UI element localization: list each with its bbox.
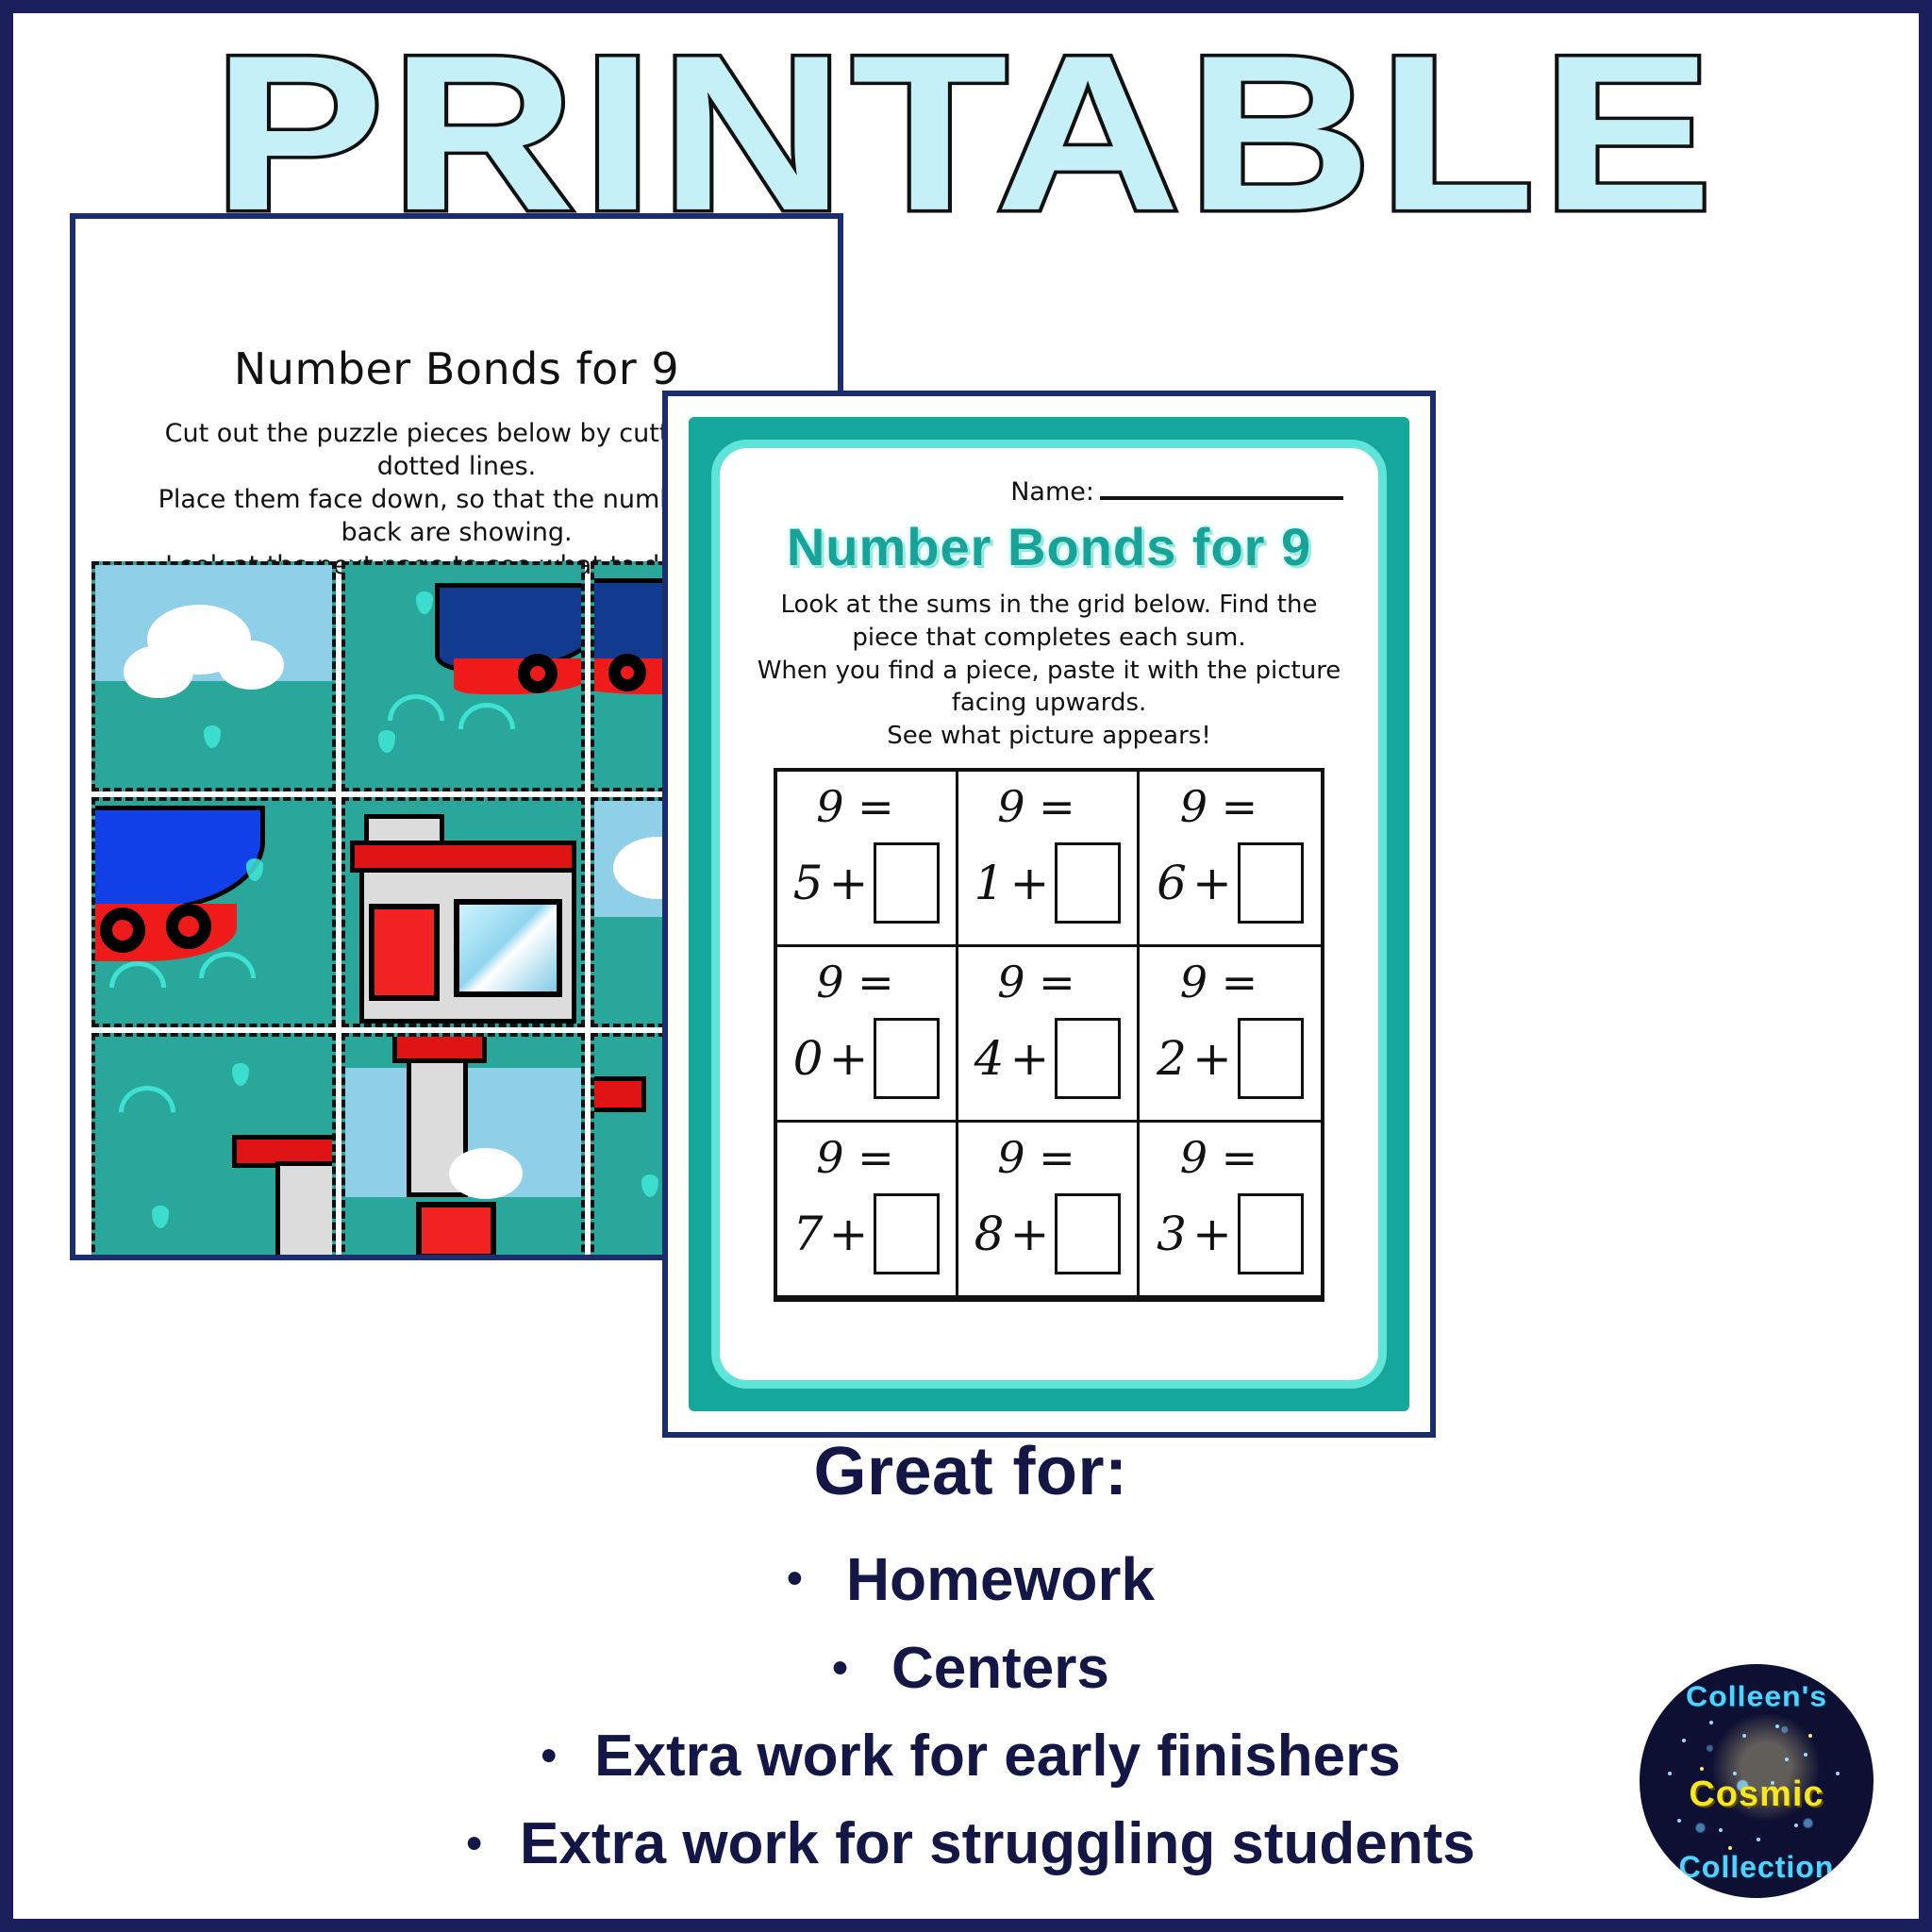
puzzle-piece	[92, 1033, 336, 1260]
great-for-label: Extra work for struggling students	[520, 1810, 1475, 1877]
answer-blank-box[interactable]	[1055, 1193, 1121, 1274]
great-for-item: • Extra work for struggling students	[325, 1810, 1617, 1877]
great-for-section: Great for: • Homework • Centers • Extra …	[325, 1433, 1617, 1877]
instruction-line: Look at the sums in the grid below. Find…	[747, 589, 1351, 622]
plus-sign: +	[828, 856, 868, 910]
sum-cell: 9 = 8 +	[958, 1123, 1140, 1298]
plus-sign: +	[1192, 1207, 1232, 1261]
puzzle-piece	[341, 797, 586, 1027]
worksheet-front-page: Name: Number Bonds for 9 Look at the sum…	[662, 391, 1436, 1438]
worksheet-back-title: Number Bonds for 9	[75, 343, 838, 394]
great-for-label: Homework	[846, 1544, 1155, 1614]
sum-cell: 9 = 1 +	[958, 772, 1140, 947]
sum-target: 9 =	[755, 781, 956, 832]
sum-grid: 9 = 5 + 9 = 1 + 9 =	[774, 768, 1324, 1302]
answer-blank-box[interactable]	[1055, 1018, 1121, 1099]
sum-addend: 1	[974, 856, 1005, 910]
sum-cell: 9 = 4 +	[958, 947, 1140, 1123]
sum-target: 9 =	[1117, 957, 1321, 1008]
great-for-heading: Great for:	[325, 1433, 1617, 1510]
puzzle-piece	[341, 1033, 586, 1260]
bullet-icon: •	[541, 1734, 557, 1779]
plus-sign: +	[1192, 856, 1232, 910]
product-cover: PRINTABLE Number Bonds for 9 Cut out the…	[0, 0, 1932, 1932]
puzzle-piece	[92, 797, 336, 1027]
puzzle-piece	[92, 561, 336, 791]
sum-addend: 7	[793, 1207, 824, 1261]
sum-target: 9 =	[936, 957, 1137, 1008]
name-field-row: Name:	[747, 475, 1351, 507]
sum-addend: 0	[793, 1031, 824, 1086]
bullet-icon: •	[466, 1822, 482, 1867]
sum-cell: 9 = 3 +	[1140, 1123, 1321, 1298]
instruction-line: facing upwards.	[747, 687, 1351, 720]
sum-cell: 9 = 0 +	[777, 947, 958, 1123]
sum-target: 9 =	[755, 957, 956, 1008]
name-label: Name:	[1010, 477, 1094, 507]
instruction-line: See what picture appears!	[747, 720, 1351, 753]
name-input-line[interactable]	[1100, 475, 1343, 500]
instruction-line: piece that completes each sum.	[747, 622, 1351, 655]
answer-blank-box[interactable]	[1238, 842, 1304, 924]
bullet-icon: •	[832, 1646, 848, 1691]
sum-cell: 9 = 2 +	[1140, 947, 1321, 1123]
plus-sign: +	[1192, 1031, 1232, 1086]
sum-cell: 9 = 7 +	[777, 1123, 958, 1298]
answer-blank-box[interactable]	[1238, 1193, 1304, 1274]
worksheet-front-title: Number Bonds for 9	[747, 516, 1351, 577]
logo-bottom-text: Collection	[1640, 1850, 1874, 1885]
sum-target: 9 =	[1117, 781, 1321, 832]
plus-sign: +	[1009, 1207, 1049, 1261]
worksheet-front-instructions: Look at the sums in the grid below. Find…	[747, 589, 1351, 753]
sum-cell: 9 = 5 +	[777, 772, 958, 947]
answer-blank-box[interactable]	[874, 842, 940, 924]
sum-addend: 5	[793, 856, 824, 910]
puzzle-piece	[341, 561, 586, 791]
logo-top-text: Colleen's	[1640, 1680, 1874, 1713]
answer-blank-box[interactable]	[1238, 1018, 1304, 1099]
plus-sign: +	[1009, 856, 1049, 910]
great-for-label: Centers	[891, 1635, 1109, 1702]
sum-target: 9 =	[1117, 1132, 1321, 1183]
great-for-item: • Centers	[325, 1635, 1617, 1702]
plus-sign: +	[828, 1207, 868, 1261]
great-for-item: • Extra work for early finishers	[325, 1723, 1617, 1790]
instruction-line: When you find a piece, paste it with the…	[747, 655, 1351, 688]
sum-addend: 6	[1157, 856, 1187, 910]
great-for-label: Extra work for early finishers	[594, 1723, 1401, 1790]
logo-mid-text: Cosmic	[1640, 1774, 1874, 1815]
bullet-icon: •	[787, 1557, 803, 1602]
answer-blank-box[interactable]	[1055, 842, 1121, 924]
plus-sign: +	[828, 1031, 868, 1086]
sum-addend: 8	[974, 1207, 1005, 1261]
answer-blank-box[interactable]	[874, 1018, 940, 1099]
plus-sign: +	[1009, 1031, 1049, 1086]
sum-target: 9 =	[755, 1132, 956, 1183]
sum-cell: 9 = 6 +	[1140, 772, 1321, 947]
sum-target: 9 =	[936, 781, 1137, 832]
printable-banner: PRINTABLE	[0, 23, 1932, 244]
sum-addend: 4	[974, 1031, 1005, 1086]
answer-blank-box[interactable]	[874, 1193, 940, 1274]
colleens-cosmic-collection-logo: Colleen's Cosmic Collection	[1640, 1664, 1874, 1898]
great-for-item: • Homework	[325, 1544, 1617, 1614]
sum-addend: 2	[1157, 1031, 1187, 1086]
sum-target: 9 =	[936, 1132, 1137, 1183]
sum-addend: 3	[1157, 1207, 1187, 1261]
